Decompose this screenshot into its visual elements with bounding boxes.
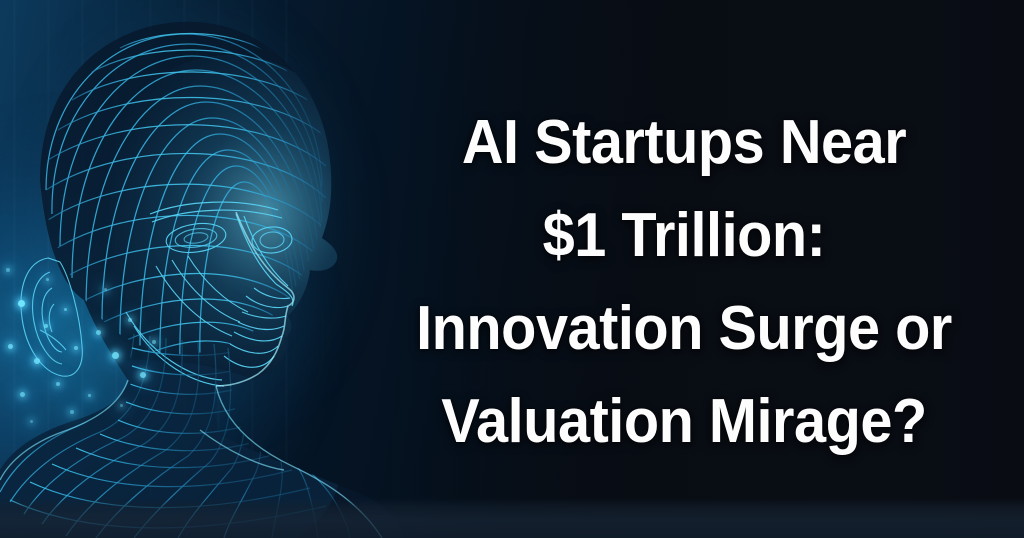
particle-dot — [120, 404, 123, 407]
particle-dot — [20, 392, 25, 397]
headline-line-1: AI Startups Near — [405, 96, 963, 189]
particle-dot — [46, 278, 49, 281]
headline-line-2: $1 Trillion: — [405, 189, 963, 282]
particle-dot — [70, 410, 74, 414]
banner-image: AI Startups Near $1 Trillion: Innovation… — [0, 0, 1024, 538]
headline-line-3: Innovation Surge or — [405, 282, 963, 375]
particle-dot — [18, 300, 25, 307]
particle-dot — [74, 346, 78, 350]
particle-dot — [6, 268, 10, 272]
particle-dot — [88, 394, 91, 397]
particle-dot — [30, 420, 33, 423]
particle-dot — [8, 344, 13, 349]
headline-line-4: Valuation Mirage? — [405, 375, 963, 468]
particle-dot — [140, 372, 146, 378]
particle-dot — [44, 324, 48, 328]
particle-dot — [152, 340, 156, 344]
particle-cluster — [0, 0, 330, 538]
particle-dot — [96, 330, 101, 335]
particle-dot — [34, 358, 40, 364]
headline-text: AI Startups Near $1 Trillion: Innovation… — [384, 96, 984, 468]
particle-dot — [128, 318, 132, 322]
particle-dot — [112, 352, 119, 359]
particle-dot — [64, 308, 67, 311]
bottom-light-band — [0, 498, 1024, 538]
particle-dot — [104, 288, 107, 291]
particle-dot — [56, 382, 60, 386]
